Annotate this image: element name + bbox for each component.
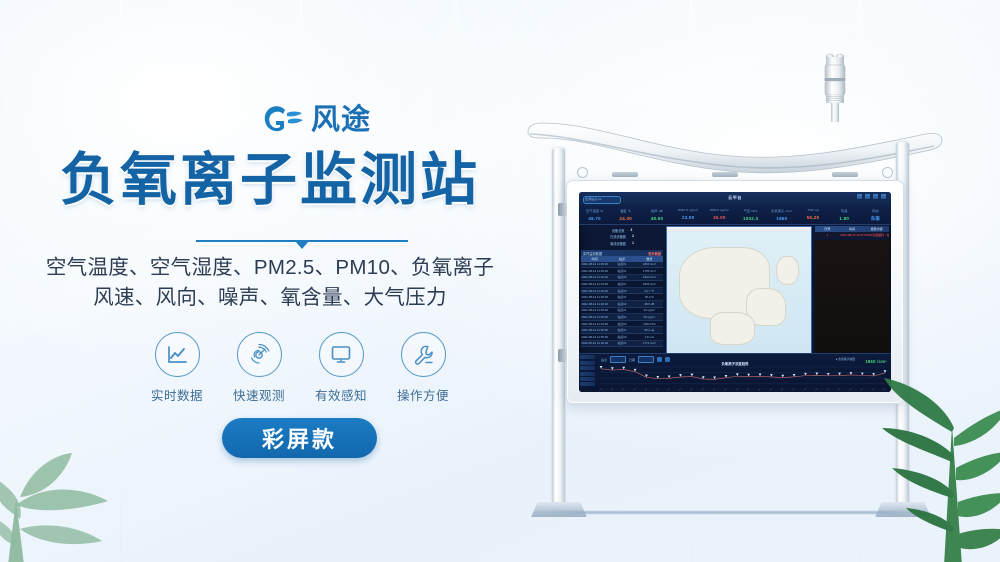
- metric-card: 噪声 dB 48.60: [641, 206, 672, 224]
- dashboard-title: 云平台: [728, 195, 742, 201]
- stat-value: 3: [630, 228, 632, 233]
- stat-label: 设备总数: [612, 228, 625, 233]
- radar-observe-icon: [237, 332, 282, 377]
- alarm-panel: 序号 时间 报警内容 1 2022-08-12 10:37 PM10浓度超标 -…: [813, 224, 891, 354]
- stat-value: 1: [632, 241, 634, 246]
- metric-card: 温度 ℃ 24.30: [610, 206, 641, 224]
- display-cabinet: 监测站点-01 云平台 空气湿度 % 45.70: [566, 180, 904, 404]
- chart-filter-label: 日期: [629, 358, 635, 362]
- station-map[interactable]: [666, 226, 812, 354]
- cabinet-hinge: [558, 203, 567, 216]
- table-row[interactable]: 2022-08-12 11:45:00 站点02 1002 hPa: [581, 321, 663, 328]
- chart-legend: ● 负氧离子浓度: [836, 357, 855, 361]
- table-row[interactable]: 2022-08-12 12:00:00 站点01 1774 /cm³: [581, 341, 663, 348]
- metric-value: 24.30: [610, 216, 641, 221]
- vent-slot: [612, 172, 638, 177]
- table-row[interactable]: 2022-08-12 11:00:00 站点01 1860 /cm³: [581, 262, 663, 269]
- chart-controls[interactable]: 站点 日期: [601, 356, 670, 363]
- column-header: 时间: [581, 257, 608, 261]
- header-icon-group[interactable]: [857, 194, 886, 199]
- mount-eyelet-icon: [882, 167, 893, 178]
- line-chart-icon: [155, 332, 200, 377]
- metric-value: 1860: [766, 216, 797, 221]
- stat-item: 离线设备数 1: [581, 241, 663, 246]
- feature-item-fast-observation[interactable]: 快速观测: [227, 332, 291, 404]
- metric-card: 风速 1.80: [829, 206, 860, 224]
- promo-banner: 风途 负氧离子监测站 空气温度、空气湿度、PM2.5、PM10、负氧离子 风速、…: [0, 0, 1000, 562]
- chart-readout-value: 1860 /cm³: [865, 359, 887, 364]
- metric-value: 1002.3: [735, 216, 766, 221]
- table-row[interactable]: 2022-08-12 11:35:00 站点01 23 ug/m³: [581, 308, 663, 315]
- trend-line-chart: [599, 365, 887, 391]
- side-tab[interactable]: [580, 355, 595, 359]
- more-data-button[interactable]: 更多数据: [648, 251, 661, 256]
- table-row[interactable]: 2022-08-12 11:15:00 站点01 1803 /cm³: [581, 281, 663, 288]
- metric-label: 温度 ℃: [610, 208, 641, 213]
- wave-canopy: [526, 116, 944, 174]
- side-tab[interactable]: [580, 366, 595, 370]
- side-tab[interactable]: [580, 377, 595, 381]
- chart-filter-label: 站点: [601, 358, 607, 362]
- metric-card: 风向 东南: [860, 206, 891, 224]
- metric-value: 36.00: [704, 215, 735, 220]
- hero-text-column: 风途 负氧离子监测站 空气温度、空气湿度、PM2.5、PM10、负氧离子 风速、…: [0, 0, 540, 562]
- vent-slot: [832, 172, 858, 177]
- trend-chart-panel: 站点 日期 ● 负氧离子浓度 1860 /cm³ 负氧离子浓度趋势: [579, 353, 891, 392]
- mount-eyelet-icon: [577, 167, 588, 178]
- page-title: 负氧离子监测站: [0, 152, 540, 209]
- table-row[interactable]: 2022-08-12 11:50:00 站点01 55.2 ug: [581, 327, 663, 334]
- cabinet-hinge: [558, 349, 567, 362]
- feature-label: 有效感知: [309, 385, 373, 404]
- monitoring-station-device: 监测站点-01 云平台 空气湿度 % 45.70: [520, 40, 950, 540]
- monitor-screen-icon: [319, 332, 364, 377]
- left-panel: 设备总数 3 在线设备数 2 离线设备数 1: [579, 224, 665, 354]
- stat-value: 2: [632, 234, 634, 239]
- column-header: 数值: [636, 257, 663, 261]
- metric-card: 气压 hPa 1002.3: [735, 206, 766, 224]
- feature-item-easy-operation[interactable]: 操作方便: [391, 332, 455, 404]
- toolbar-icon[interactable]: [881, 194, 886, 199]
- table-row[interactable]: 2022-08-12 11:30:00 站点02 48.6 dB: [581, 301, 663, 308]
- feature-label: 操作方便: [391, 385, 455, 404]
- table-row[interactable]: 2022-08-12 11:05:00 站点01 1785 /cm³: [581, 268, 663, 275]
- table-row[interactable]: 2022-08-12 11:25:00 站点01 45.2 %: [581, 294, 663, 301]
- title-divider: [196, 240, 408, 242]
- landmass: [710, 312, 755, 345]
- alarm-empty-area: [815, 240, 889, 354]
- metric-label: 风速: [829, 208, 860, 213]
- support-post-left: [552, 148, 565, 508]
- station-selector-label: 监测站点-01: [585, 197, 601, 201]
- stat-label: 在线设备数: [610, 234, 626, 239]
- stat-label: 离线设备数: [610, 241, 626, 246]
- metric-value: 45.70: [579, 216, 610, 221]
- table-row[interactable]: 2022-08-12 11:55:00 站点03 1.8 m/s: [581, 334, 663, 341]
- metric-value: 55.20: [797, 215, 828, 220]
- wrench-tool-icon: [401, 332, 446, 377]
- table-title: 实时监测数据: [583, 251, 602, 256]
- landmass: [776, 256, 798, 285]
- metric-label: 负氧离子 /cm³: [766, 208, 797, 213]
- chart-station-select[interactable]: [610, 356, 626, 363]
- feature-item-effective-sensing[interactable]: 有效感知: [309, 332, 373, 404]
- metric-label: TSP ug: [797, 208, 828, 212]
- metric-card: PM2.5 ug/m³ 23.00: [673, 206, 704, 224]
- table-column-row: 时间 站点 数值: [581, 256, 663, 262]
- metric-value: 23.00: [673, 215, 704, 220]
- column-header: 时间: [840, 227, 865, 231]
- column-header: 报警内容: [864, 227, 889, 231]
- base-plate-left: [531, 502, 587, 517]
- metric-label: PM10 ug/m³: [704, 208, 735, 212]
- side-tab[interactable]: [580, 372, 595, 376]
- base-plate-right: [875, 502, 931, 517]
- metric-card: TSP ug 55.20: [797, 206, 828, 224]
- brand-logo: 风途: [262, 104, 371, 137]
- wind-leaf-g-logo-icon: [262, 104, 304, 137]
- feature-list: 实时数据 快速观测: [145, 332, 455, 404]
- ground-line: [528, 511, 932, 514]
- table-row[interactable]: 2022-08-12 11:10:00 站点02 1920 /cm³: [581, 275, 663, 282]
- metric-value: 48.60: [641, 216, 672, 221]
- alarm-row[interactable]: 1 2022-08-12 10:37 PM10浓度超标 - 站点02: [815, 232, 889, 238]
- vent-slot: [712, 172, 738, 177]
- brand-logo-text: 风途: [311, 106, 371, 135]
- subtitle-line-1: 空气温度、空气湿度、PM2.5、PM10、负氧离子: [0, 258, 540, 279]
- map-canvas[interactable]: [667, 232, 811, 353]
- metric-label: 风向: [860, 208, 891, 213]
- chart-export-button[interactable]: [665, 357, 670, 362]
- column-header: 序号: [815, 227, 840, 231]
- toolbar-icon[interactable]: [857, 194, 862, 199]
- dashboard-header: 监测站点-01 云平台: [579, 192, 891, 207]
- metric-label: 气压 hPa: [735, 208, 766, 213]
- metric-card: PM10 ug/m³ 36.00: [704, 206, 735, 224]
- realtime-data-table: 实时监测数据 更多数据 时间 站点 数值 2022-08-12 11:00:00: [581, 250, 663, 354]
- metric-card: 空气湿度 % 45.70: [579, 206, 610, 224]
- side-tab[interactable]: [580, 382, 595, 386]
- metric-label: PM2.5 ug/m³: [673, 208, 704, 212]
- color-screen-model-button[interactable]: 彩屏款: [222, 418, 377, 458]
- stat-item: 设备总数 3: [581, 228, 663, 233]
- column-header: 站点: [608, 257, 635, 261]
- chart-query-button[interactable]: [657, 357, 662, 362]
- toolbar-icon[interactable]: [865, 194, 870, 199]
- feature-label: 实时数据: [145, 385, 209, 404]
- metric-card: 负氧离子 /cm³ 1860: [766, 206, 797, 224]
- cloud-platform-dashboard: 监测站点-01 云平台 空气湿度 % 45.70: [579, 192, 891, 392]
- metric-value: 1.80: [829, 216, 860, 221]
- metric-card-row: 空气湿度 % 45.70 温度 ℃ 24.30 噪声 dB 48.60 PM: [579, 206, 891, 225]
- lcd-screen: 监测站点-01 云平台 空气湿度 % 45.70: [579, 192, 891, 392]
- side-tab[interactable]: [580, 361, 595, 365]
- metric-label: 空气湿度 %: [579, 208, 610, 213]
- chart-date-select[interactable]: [638, 356, 654, 363]
- stat-item: 在线设备数 2: [581, 234, 663, 239]
- subtitle-line-2: 风速、风向、噪声、氧含量、大气压力: [0, 288, 540, 309]
- toolbar-icon[interactable]: [873, 194, 878, 199]
- table-row[interactable]: 2022-08-12 11:40:00 站点01 36 ug/m³: [581, 314, 663, 321]
- dashboard-body: 设备总数 3 在线设备数 2 离线设备数 1: [579, 224, 891, 354]
- ultrasonic-weather-sensor-icon: [820, 50, 850, 124]
- chart-side-tabs[interactable]: [579, 354, 597, 392]
- table-row[interactable]: 2022-08-12 11:20:00 站点03 24.7 ℃: [581, 288, 663, 295]
- metric-value: 东南: [860, 216, 891, 222]
- metric-label: 噪声 dB: [641, 208, 672, 213]
- feature-item-realtime-data[interactable]: 实时数据: [145, 332, 209, 404]
- feature-label: 快速观测: [227, 385, 291, 404]
